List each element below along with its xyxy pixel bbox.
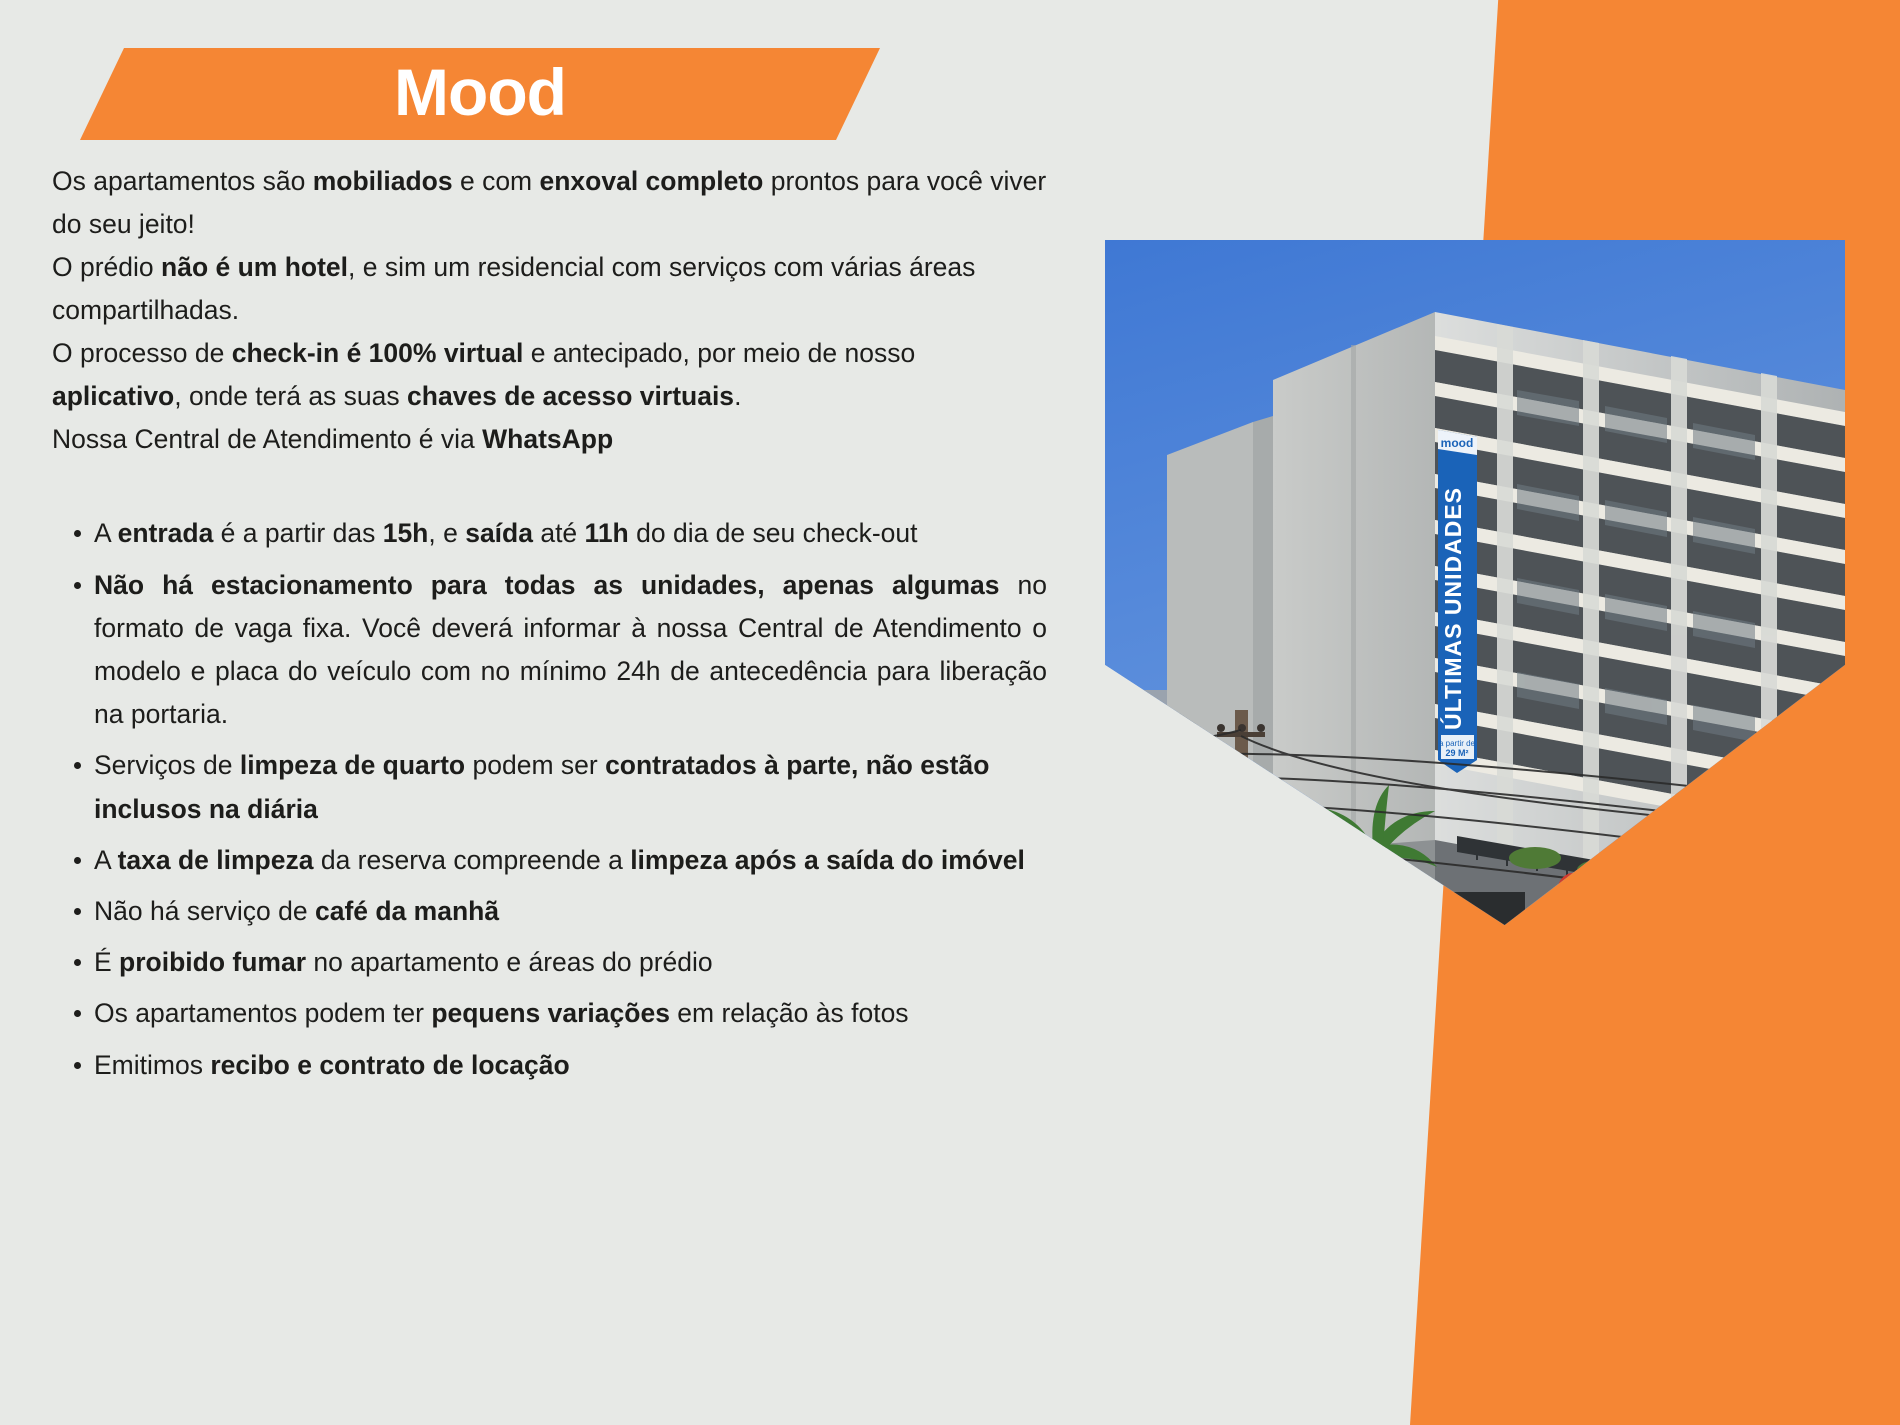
rule-item: Não há serviço de café da manhã <box>52 890 1047 933</box>
body-text: Emitimos <box>94 1050 210 1080</box>
body-text: em relação às fotos <box>670 998 909 1028</box>
emphasis-text: taxa de limpeza <box>118 845 314 875</box>
emphasis-text: enxoval completo <box>540 166 764 196</box>
intro-paragraphs: Os apartamentos são mobiliados e com enx… <box>52 160 1047 460</box>
body-text: até <box>533 518 585 548</box>
emphasis-text: não é um hotel <box>161 252 348 282</box>
body-text: A <box>94 518 118 548</box>
content-column: Os apartamentos são mobiliados e com enx… <box>52 160 1047 1095</box>
body-text: Não há serviço de <box>94 896 315 926</box>
body-text: Os apartamentos são <box>52 166 313 196</box>
body-text: do dia de seu check-out <box>629 518 918 548</box>
rules-list: A entrada é a partir das 15h, e saída at… <box>52 512 1047 1086</box>
page-title: Mood <box>394 59 566 129</box>
rule-item: Emitimos recibo e contrato de locação <box>52 1044 1047 1087</box>
body-text: O prédio <box>52 252 161 282</box>
svg-text:mood: mood <box>1441 436 1474 450</box>
rule-item: Não há estacionamento para todas as unid… <box>52 564 1047 737</box>
body-text: podem ser <box>465 750 605 780</box>
svg-text:ÚLTIMAS UNIDADES: ÚLTIMAS UNIDADES <box>1439 487 1466 730</box>
rule-item: É proibido fumar no apartamento e áreas … <box>52 941 1047 984</box>
body-text: . <box>734 381 741 411</box>
body-text: Nossa Central de Atendimento é via <box>52 424 482 454</box>
rule-item: Os apartamentos podem ter pequens variaç… <box>52 992 1047 1035</box>
intro-paragraph: O prédio não é um hotel, e sim um reside… <box>52 246 1047 332</box>
emphasis-text: café da manhã <box>315 896 499 926</box>
intro-paragraph: Os apartamentos são mobiliados e com enx… <box>52 160 1047 246</box>
emphasis-text: pequens variações <box>431 998 670 1028</box>
rule-item: Serviços de limpeza de quarto podem ser … <box>52 744 1047 830</box>
body-text: , e <box>428 518 465 548</box>
emphasis-text: recibo e contrato de locação <box>210 1050 569 1080</box>
title-banner: Mood <box>80 48 880 140</box>
emphasis-text: saída <box>465 518 533 548</box>
emphasis-text: limpeza de quarto <box>240 750 465 780</box>
body-text: A <box>94 845 118 875</box>
body-text: Os apartamentos podem ter <box>94 998 431 1028</box>
emphasis-text: limpeza após a saída do imóvel <box>630 845 1025 875</box>
emphasis-text: entrada <box>118 518 214 548</box>
emphasis-text: 11h <box>585 518 629 548</box>
emphasis-text: Não há estacionamento para todas as unid… <box>94 570 1000 600</box>
emphasis-text: check-in é 100% virtual <box>232 338 524 368</box>
emphasis-text: chaves de acesso virtuais <box>407 381 734 411</box>
building-banner: mood ÚLTIMAS UNIDADES a partir de 29 M² <box>1438 430 1477 773</box>
intro-paragraph: O processo de check-in é 100% virtual e … <box>52 332 1047 418</box>
emphasis-text: proibido fumar <box>119 947 306 977</box>
body-text: da reserva compreende a <box>313 845 630 875</box>
body-text: e antecipado, por meio de nosso <box>523 338 915 368</box>
rule-item: A entrada é a partir das 15h, e saída at… <box>52 512 1047 555</box>
body-text: no apartamento e áreas do prédio <box>306 947 713 977</box>
intro-paragraph: Nossa Central de Atendimento é via Whats… <box>52 418 1047 461</box>
svg-text:29 M²: 29 M² <box>1445 748 1468 758</box>
emphasis-text: WhatsApp <box>482 424 613 454</box>
emphasis-text: 15h <box>383 518 429 548</box>
body-text: Serviços de <box>94 750 240 780</box>
body-text: , onde terá as suas <box>174 381 407 411</box>
emphasis-text: mobiliados <box>313 166 453 196</box>
body-text: é a partir das <box>213 518 382 548</box>
emphasis-text: aplicativo <box>52 381 174 411</box>
rule-item: A taxa de limpeza da reserva compreende … <box>52 839 1047 882</box>
body-text: É <box>94 947 119 977</box>
svg-text:a partir de: a partir de <box>1439 739 1476 748</box>
body-text: e com <box>453 166 540 196</box>
body-text: O processo de <box>52 338 232 368</box>
